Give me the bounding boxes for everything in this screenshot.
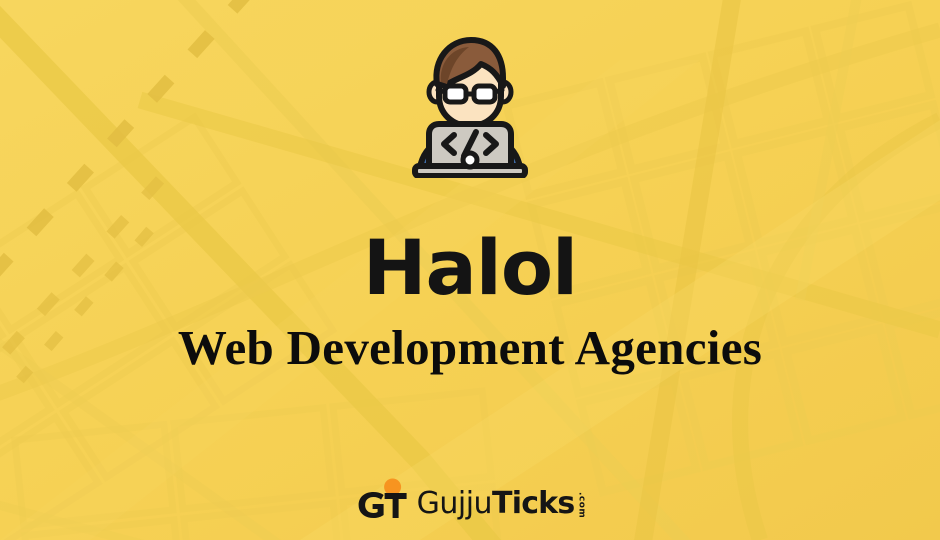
gujjuticks-gt-mark-icon (355, 478, 411, 522)
page-subtitle: Web Development Agencies (178, 322, 762, 374)
page-title: Halol (363, 230, 577, 306)
brand-word-ticks: Ticks (492, 489, 574, 519)
brand-tld: .com (576, 492, 585, 518)
brand-logo[interactable]: Gujju Ticks .com (355, 478, 586, 522)
brand-wordmark: Gujju Ticks .com (417, 489, 586, 522)
web-developer-icon (407, 34, 533, 178)
brand-word-gujju: Gujju (417, 489, 492, 519)
city-banner: Halol Web Development Agencies Gujju Tic… (0, 0, 940, 540)
banner-content: Halol Web Development Agencies (0, 0, 940, 540)
